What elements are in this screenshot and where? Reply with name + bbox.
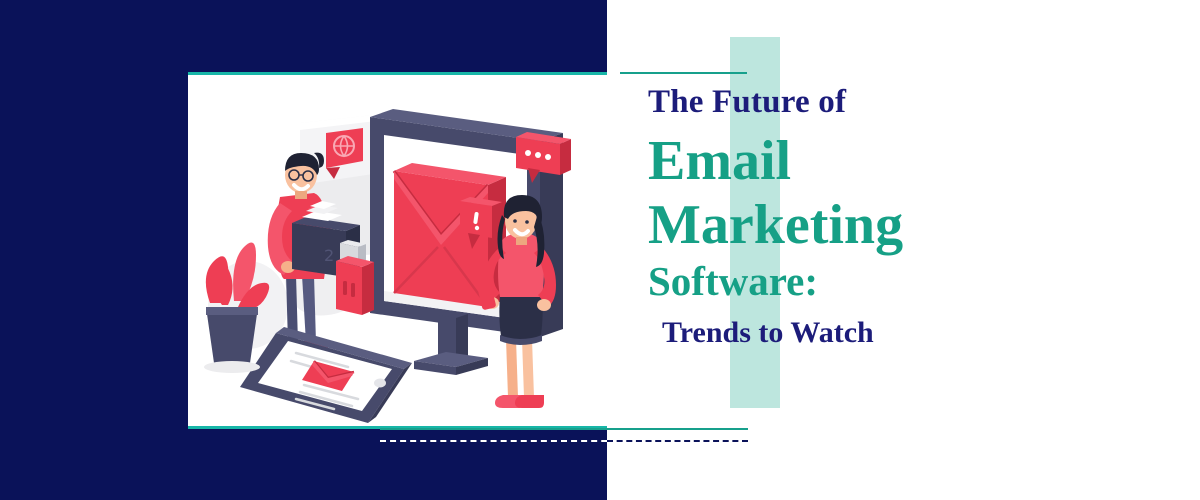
headline-top-rule [620,72,747,74]
headline-line-3: Marketing [648,197,1068,253]
banner-canvas: 2 [0,0,1200,500]
illustration-svg: 2 [188,75,607,426]
headline-line-1: The Future of [648,86,1068,119]
headline-line-4: Software: [648,261,1068,302]
bottom-rule [380,428,748,430]
dashed-divider-right [607,440,748,442]
svg-text:2: 2 [324,246,334,265]
headline-line-2: Email [648,133,1068,189]
illustration-card: 2 [188,72,607,429]
headline-line-5: Trends to Watch [648,318,1068,348]
headline-block: The Future of Email Marketing Software: … [648,86,1068,348]
